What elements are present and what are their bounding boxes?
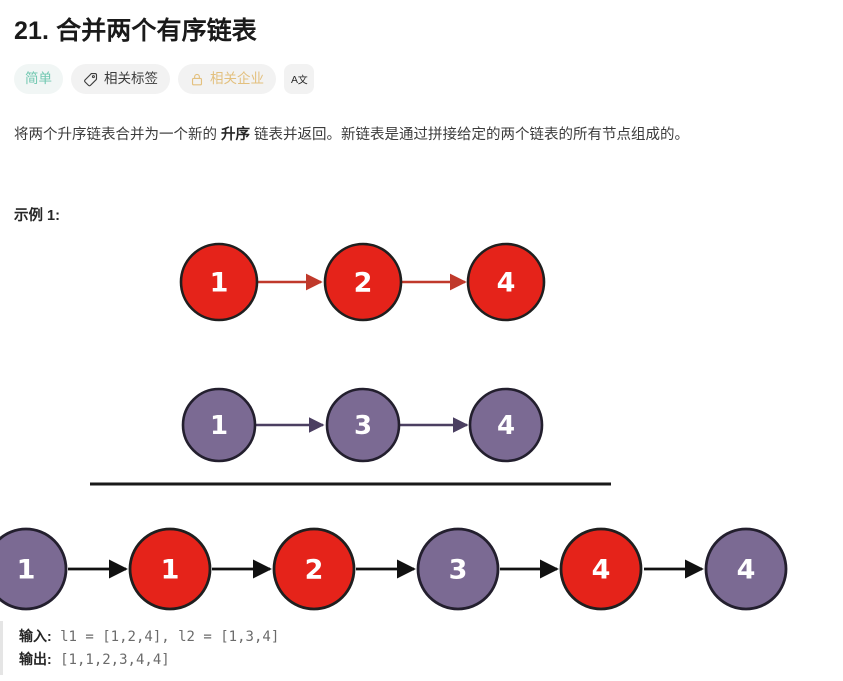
example-input-line: 输入: l1 = [1,2,4], l2 = [1,3,4] xyxy=(19,625,843,648)
related-companies-label: 相关企业 xyxy=(210,72,264,86)
description-emphasis: 升序 xyxy=(221,127,250,143)
diagram-svg: 1 2 4 1 3 4 xyxy=(0,231,829,621)
merged-node-4: 4 xyxy=(561,529,641,609)
example-output-line: 输出: [1,1,2,3,4,4] xyxy=(19,648,843,671)
merged-node-3: 3 xyxy=(418,529,498,609)
output-label: 输出: xyxy=(19,651,52,667)
description-part-1: 将两个升序链表合并为一个新的 xyxy=(14,127,221,143)
example-code-block: 输入: l1 = [1,2,4], l2 = [1,3,4] 输出: [1,1,… xyxy=(0,621,843,675)
output-value: [1,1,2,3,4,4] xyxy=(52,652,170,668)
merged-node-2: 2 xyxy=(274,529,354,609)
example-heading: 示例 1: xyxy=(14,204,829,225)
related-companies-button[interactable]: 相关企业 xyxy=(178,64,276,94)
node-value: 4 xyxy=(497,411,515,441)
list1-node-1: 2 xyxy=(325,244,401,320)
tag-icon xyxy=(83,72,98,87)
linked-list-diagram: 1 2 4 1 3 4 xyxy=(0,231,829,621)
translate-icon[interactable]: A 文 xyxy=(284,64,314,94)
list2-row: 1 3 4 xyxy=(183,389,542,461)
list2-node-2: 4 xyxy=(470,389,542,461)
input-label: 输入: xyxy=(19,628,52,644)
difficulty-badge[interactable]: 简单 xyxy=(14,64,63,94)
problem-page: 21. 合并两个有序链表 简单 相关标签 相关企业 xyxy=(0,0,843,225)
list2-node-1: 3 xyxy=(327,389,399,461)
badge-row: 简单 相关标签 相关企业 A 文 xyxy=(14,64,829,94)
node-value: 2 xyxy=(354,268,373,299)
list1-row: 1 2 4 xyxy=(181,244,544,320)
merged-node-0: 1 xyxy=(0,529,66,609)
node-value: 1 xyxy=(17,555,36,586)
merged-node-5: 4 xyxy=(706,529,786,609)
node-value: 2 xyxy=(305,555,324,586)
input-value: l1 = [1,2,4], l2 = [1,3,4] xyxy=(52,629,280,645)
description-part-2: 链表并返回。新链表是通过拼接给定的两个链表的所有节点组成的。 xyxy=(250,127,689,143)
node-value: 4 xyxy=(497,268,516,299)
merged-row: 1 1 2 3 4 4 xyxy=(0,529,786,609)
node-value: 1 xyxy=(210,268,229,299)
related-tags-button[interactable]: 相关标签 xyxy=(71,64,170,94)
page-title: 21. 合并两个有序链表 xyxy=(14,14,829,48)
node-value: 3 xyxy=(354,411,372,441)
lock-icon xyxy=(190,72,204,87)
node-value: 1 xyxy=(210,411,228,441)
merged-node-1: 1 xyxy=(130,529,210,609)
list2-node-0: 1 xyxy=(183,389,255,461)
node-value: 4 xyxy=(737,555,756,586)
node-value: 1 xyxy=(161,555,180,586)
difficulty-label: 简单 xyxy=(25,72,52,86)
node-value: 4 xyxy=(592,555,611,586)
svg-text:文: 文 xyxy=(297,73,307,86)
problem-description: 将两个升序链表合并为一个新的 升序 链表并返回。新链表是通过拼接给定的两个链表的… xyxy=(14,124,829,146)
list1-node-0: 1 xyxy=(181,244,257,320)
related-tags-label: 相关标签 xyxy=(104,72,158,86)
node-value: 3 xyxy=(449,555,468,586)
list1-node-2: 4 xyxy=(468,244,544,320)
